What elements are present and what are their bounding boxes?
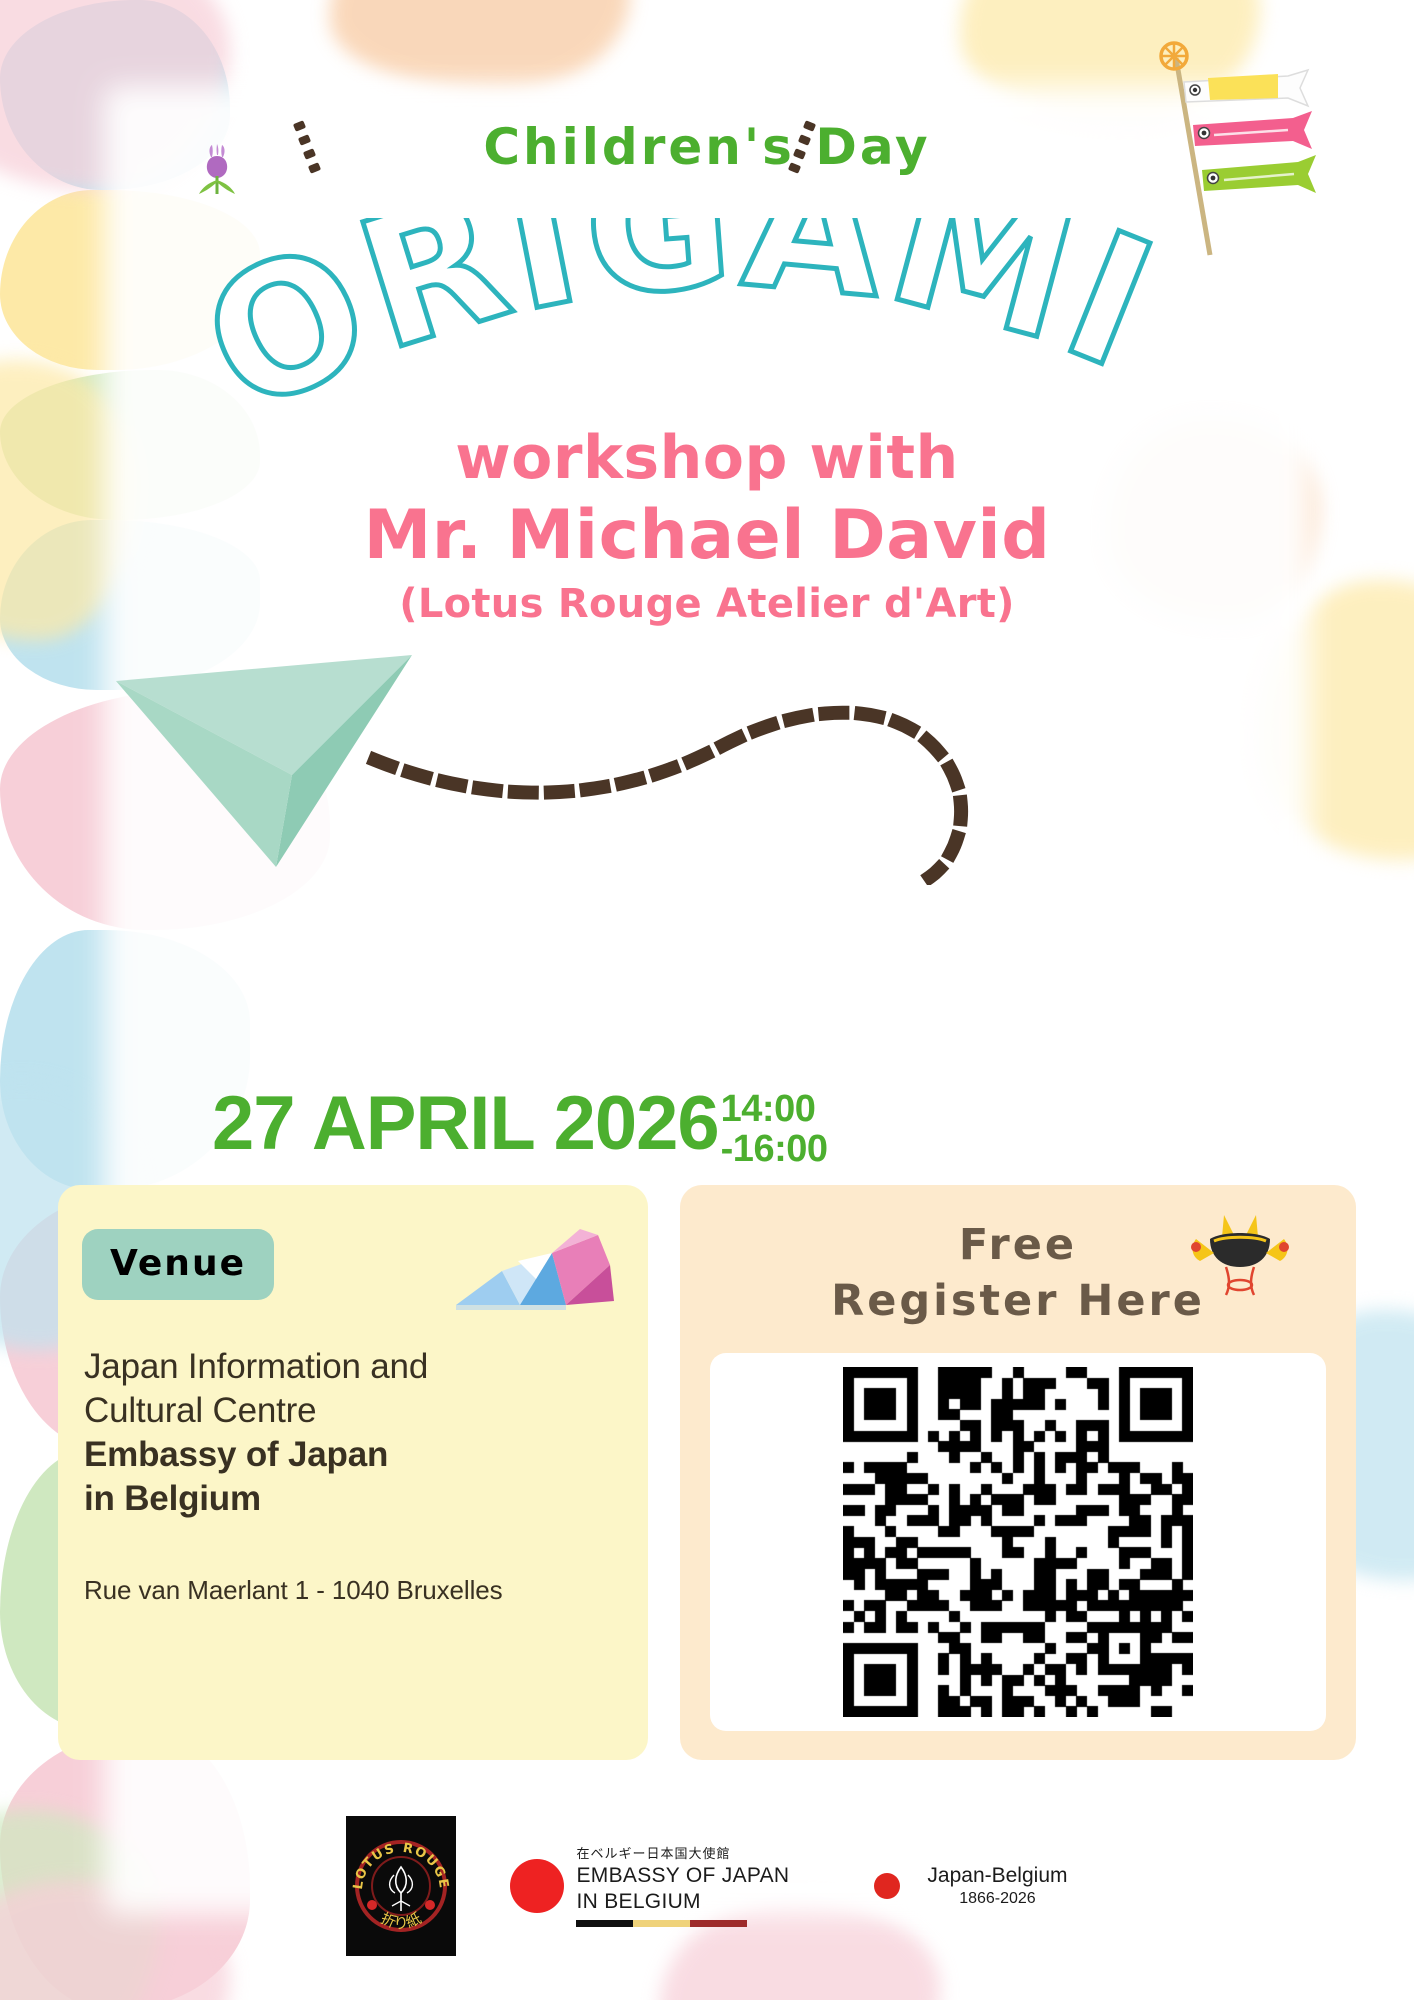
poster-canvas: Children's Day: [0, 0, 1414, 2000]
venue-name-line-2: Cultural Centre: [84, 1389, 626, 1433]
register-heading-line-1: Free: [680, 1217, 1356, 1273]
origami-title: ORIGAMI ORIGAMI: [0, 218, 1414, 438]
venue-name-line-1: Japan Information and: [84, 1345, 626, 1389]
register-heading-line-2: Register Here: [680, 1273, 1356, 1329]
workshop-subtitle: workshop with Mr. Michael David (Lotus R…: [0, 420, 1414, 632]
subtitle-line-3: (Lotus Rouge Atelier d'Art): [0, 576, 1414, 632]
svg-text:LOTUS ROUGE: LOTUS ROUGE: [351, 1841, 451, 1891]
venue-org-line-2: in Belgium: [84, 1477, 626, 1521]
footer-logos: LOTUS ROUGE 折り紙 在ベルギー日本国大使館 EMBASSY OF J…: [0, 1796, 1414, 1976]
venue-details: Japan Information and Cultural Centre Em…: [84, 1345, 626, 1607]
iris-flower-icon: [186, 136, 248, 198]
embassy-name-japanese: 在ベルギー日本国大使館: [576, 1846, 789, 1863]
venue-address: Rue van Maerlant 1 - 1040 Bruxelles: [84, 1573, 626, 1607]
register-heading: Free Register Here: [680, 1217, 1356, 1329]
anniversary-name: Japan-Belgium: [927, 1863, 1067, 1889]
event-time-start: 14:00: [721, 1089, 828, 1129]
anniversary-years: 1866-2026: [927, 1889, 1067, 1909]
dotted-trail-icon: [375, 713, 961, 877]
japan-flag-icon: [510, 1859, 564, 1913]
register-card: Free Register Here: [680, 1185, 1356, 1760]
embassy-of-japan-logo: 在ベルギー日本国大使館 EMBASSY OF JAPAN IN BELGIUM: [510, 1846, 789, 1927]
event-date-row: 27 APRIL 2026 14:00 -16:00: [212, 1085, 828, 1169]
event-time: 14:00 -16:00: [721, 1089, 828, 1169]
event-time-end: -16:00: [721, 1129, 828, 1169]
svg-text:ORIGAMI: ORIGAMI: [177, 218, 1182, 448]
embassy-name-line-2: IN BELGIUM: [576, 1889, 789, 1915]
event-date: 27 APRIL 2026: [212, 1085, 719, 1163]
subtitle-line-2: Mr. Michael David: [0, 496, 1414, 576]
lotus-rouge-logo: LOTUS ROUGE 折り紙: [346, 1816, 456, 1956]
origami-crane-icon: [448, 1209, 618, 1319]
venue-card: Venue Japan Information and Cultural Cen…: [58, 1185, 648, 1760]
subtitle-line-1: workshop with: [0, 420, 1414, 496]
embassy-name-line-1: EMBASSY OF JAPAN: [576, 1863, 789, 1889]
decorative-dashes-right: [786, 122, 820, 182]
venue-badge: Venue: [82, 1229, 274, 1300]
venue-org-line-1: Embassy of Japan: [84, 1433, 626, 1477]
japan-belgium-anniversary-logo: Japan-Belgium 1866-2026: [843, 1849, 1067, 1923]
belgian-flag-bar: [576, 1920, 746, 1927]
qr-code[interactable]: [843, 1367, 1193, 1717]
anniversary-mark-icon: [843, 1849, 917, 1923]
qr-code-frame: [710, 1353, 1326, 1731]
paper-plane-decoration: [100, 625, 1100, 885]
